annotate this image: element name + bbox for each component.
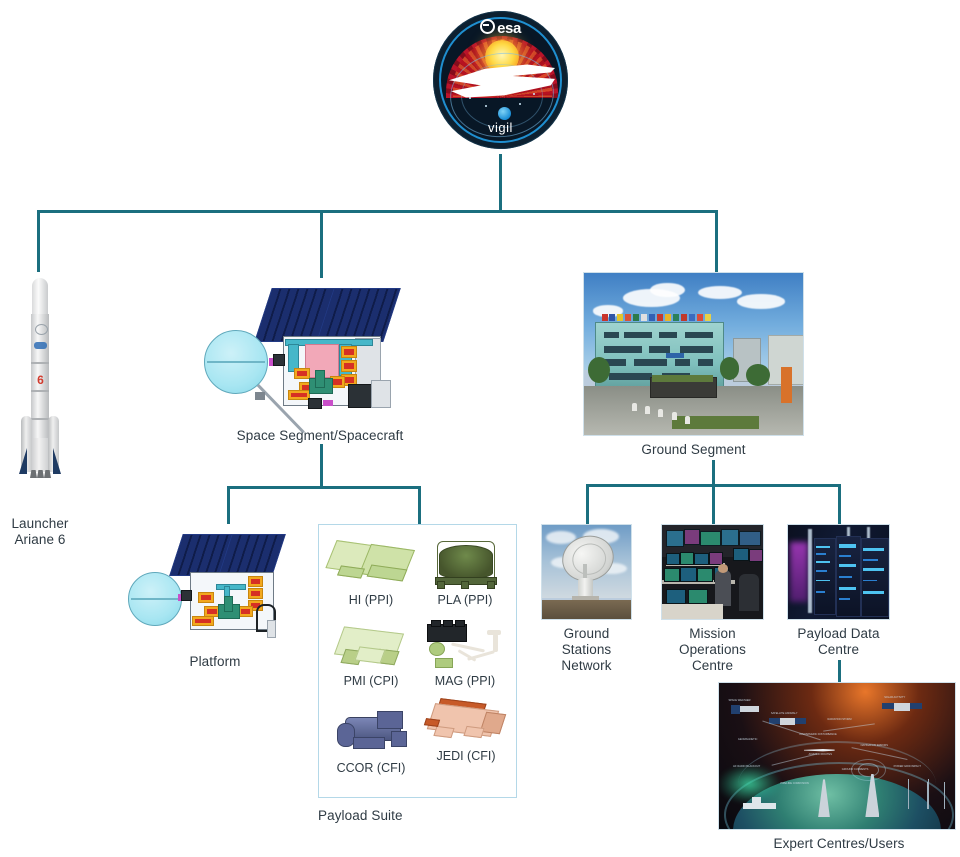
node-ground-stations[interactable]: Ground Stations Network bbox=[541, 524, 632, 674]
ariane-6-rocket-icon: 6 bbox=[18, 278, 62, 488]
connector-root-down bbox=[499, 154, 502, 212]
payload-item-pla[interactable]: PLA (PPI) bbox=[419, 537, 511, 607]
node-expert-centres-label: Expert Centres/Users bbox=[718, 836, 960, 852]
connector-to-mission-ops bbox=[712, 484, 715, 524]
node-ground-segment[interactable]: Ground Segment bbox=[583, 272, 804, 458]
esoc-building-photo bbox=[583, 272, 804, 436]
node-payload-data-label: Payload Data Centre bbox=[787, 626, 890, 658]
compact-coronagraph-icon bbox=[325, 707, 417, 761]
node-platform-label: Platform bbox=[120, 654, 310, 670]
connector-level1-bus bbox=[37, 210, 718, 213]
connector-to-launcher bbox=[37, 210, 40, 272]
node-ground-stations-label: Ground Stations Network bbox=[541, 626, 632, 674]
payload-item-mag[interactable]: MAG (PPI) bbox=[419, 620, 511, 688]
payload-item-pmi[interactable]: PMI (CPI) bbox=[325, 622, 417, 688]
mission-patch-graphic: esa vigil bbox=[433, 6, 568, 154]
node-ground-segment-label: Ground Segment bbox=[583, 442, 804, 458]
photospheric-magnetic-imager-icon bbox=[327, 622, 415, 674]
connector-to-space-segment bbox=[320, 210, 323, 278]
jedi-particle-detector-icon bbox=[421, 697, 511, 749]
payload-item-hi[interactable]: HI (PPI) bbox=[325, 537, 417, 607]
payload-item-pla-label: PLA (PPI) bbox=[419, 593, 511, 607]
connector-to-ground-segment bbox=[715, 210, 718, 272]
node-mission-ops-label: Mission Operations Centre bbox=[661, 626, 764, 674]
heliospheric-imager-icon bbox=[327, 537, 415, 593]
node-expert-centres[interactable]: SPACE WEATHER SATELLITE ANOMALY RADIATIO… bbox=[718, 682, 960, 852]
payload-item-pmi-label: PMI (CPI) bbox=[325, 674, 417, 688]
connector-to-platform bbox=[227, 486, 230, 524]
connector-ground-segment-down bbox=[712, 460, 715, 486]
spacecraft-platform-icon bbox=[120, 528, 310, 638]
ground-station-antenna-photo bbox=[541, 524, 632, 620]
connector-to-expert-centres bbox=[838, 660, 841, 684]
connector-space-segment-down bbox=[320, 444, 323, 488]
diagram-canvas: esa vigil 6 Launcher Ariane 6 bbox=[0, 0, 960, 857]
connector-to-ground-stations bbox=[586, 484, 589, 524]
esa-logo-text: esa bbox=[433, 19, 568, 37]
vigil-spacecraft-icon bbox=[195, 282, 445, 422]
payload-item-hi-label: HI (PPI) bbox=[325, 593, 417, 607]
mission-name-text: vigil bbox=[433, 120, 568, 135]
space-weather-impacts-illustration: SPACE WEATHER SATELLITE ANOMALY RADIATIO… bbox=[718, 682, 956, 830]
node-launcher-label: Launcher Ariane 6 bbox=[0, 516, 80, 548]
payload-item-jedi-label: JEDI (CFI) bbox=[419, 749, 513, 763]
plasma-analyser-icon bbox=[421, 537, 509, 593]
payload-item-ccor-label: CCOR (CFI) bbox=[323, 761, 419, 775]
node-payload-suite-label: Payload Suite bbox=[318, 808, 517, 824]
payload-item-jedi[interactable]: JEDI (CFI) bbox=[419, 697, 513, 763]
node-space-segment-label: Space Segment/Spacecraft bbox=[195, 428, 445, 444]
node-payload-data[interactable]: Payload Data Centre bbox=[787, 524, 890, 658]
node-payload-suite[interactable]: HI (PPI) PLA (PPI) PMI (CPI) bbox=[318, 524, 517, 798]
connector-to-payload-suite bbox=[418, 486, 421, 524]
payload-item-mag-label: MAG (PPI) bbox=[419, 674, 511, 688]
payload-item-ccor[interactable]: CCOR (CFI) bbox=[323, 707, 419, 775]
esa-roundel-icon bbox=[480, 19, 495, 34]
connector-space-segment-bus bbox=[227, 486, 421, 489]
node-mission-ops[interactable]: Mission Operations Centre bbox=[661, 524, 764, 674]
mission-control-room-photo bbox=[661, 524, 764, 620]
server-racks-photo bbox=[787, 524, 890, 620]
magnetometer-icon bbox=[421, 620, 509, 674]
connector-to-payload-data bbox=[838, 484, 841, 524]
